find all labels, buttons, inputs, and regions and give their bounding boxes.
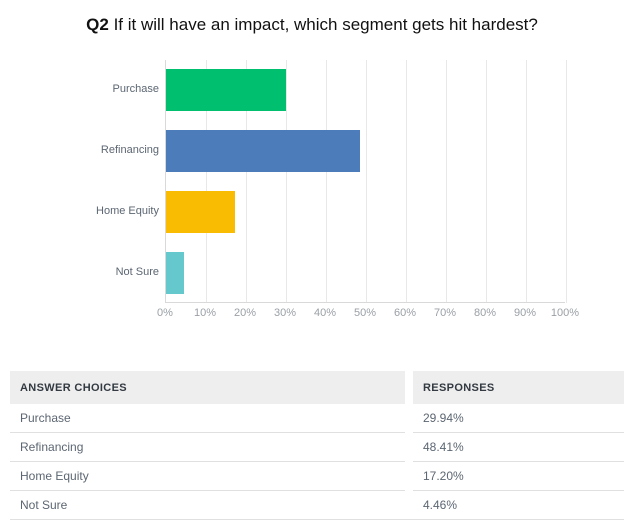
bar-home-equity[interactable] — [166, 191, 235, 233]
bar-row — [166, 69, 566, 111]
x-tick-label: 100% — [551, 306, 579, 320]
bar-refinancing[interactable] — [166, 130, 360, 172]
cell-gap — [405, 433, 413, 462]
cell-gap — [405, 404, 413, 433]
column-gap — [405, 371, 413, 404]
x-tick-label: 60% — [394, 306, 416, 320]
plot-area — [165, 60, 565, 303]
x-axis-line — [166, 302, 565, 303]
x-tick-label: 20% — [234, 306, 256, 320]
table-row: Refinancing48.41% — [10, 433, 624, 462]
bar-row — [166, 130, 566, 172]
bar-series — [166, 60, 565, 303]
bar-purchase[interactable] — [166, 69, 286, 111]
x-tick-label: 40% — [314, 306, 336, 320]
table-body: Purchase29.94%Refinancing48.41%Home Equi… — [10, 404, 624, 520]
x-axis-tick-labels: 0%10%20%30%40%50%60%70%80%90%100% — [165, 306, 565, 324]
table-row: Purchase29.94% — [10, 404, 624, 433]
cell-answer-choice: Refinancing — [10, 433, 405, 462]
cell-answer-choice: Purchase — [10, 404, 405, 433]
x-tick-label: 80% — [474, 306, 496, 320]
cell-answer-choice: Home Equity — [10, 462, 405, 491]
cell-response: 48.41% — [413, 433, 624, 462]
category-label-not-sure: Not Sure — [0, 266, 159, 279]
cell-gap — [405, 462, 413, 491]
x-tick-label: 90% — [514, 306, 536, 320]
table-row: Not Sure4.46% — [10, 491, 624, 520]
column-header-responses: RESPONSES — [413, 371, 624, 404]
cell-answer-choice: Not Sure — [10, 491, 405, 520]
bar-chart: PurchaseRefinancingHome EquityNot Sure 0… — [0, 50, 624, 340]
table-row: Home Equity17.20% — [10, 462, 624, 491]
cell-response: 29.94% — [413, 404, 624, 433]
cell-response: 17.20% — [413, 462, 624, 491]
x-tick-label: 70% — [434, 306, 456, 320]
question-text: If it will have an impact, which segment… — [109, 15, 538, 34]
gridline — [566, 60, 567, 303]
question-number: Q2 — [86, 15, 109, 34]
column-header-answer-choices: ANSWER CHOICES — [10, 371, 405, 404]
x-tick-label: 0% — [157, 306, 173, 320]
responses-table: ANSWER CHOICES RESPONSES Purchase29.94%R… — [10, 371, 614, 520]
category-label-purchase: Purchase — [0, 83, 159, 96]
category-axis-labels: PurchaseRefinancingHome EquityNot Sure — [0, 60, 159, 303]
bar-not-sure[interactable] — [166, 252, 184, 294]
cell-response: 4.46% — [413, 491, 624, 520]
x-tick-label: 30% — [274, 306, 296, 320]
x-tick-label: 10% — [194, 306, 216, 320]
category-label-home-equity: Home Equity — [0, 205, 159, 218]
bar-row — [166, 191, 566, 233]
cell-gap — [405, 491, 413, 520]
category-label-refinancing: Refinancing — [0, 144, 159, 157]
x-tick-label: 50% — [354, 306, 376, 320]
page-title: Q2 If it will have an impact, which segm… — [0, 14, 624, 36]
table-header-row: ANSWER CHOICES RESPONSES — [10, 371, 624, 404]
bar-row — [166, 252, 566, 294]
